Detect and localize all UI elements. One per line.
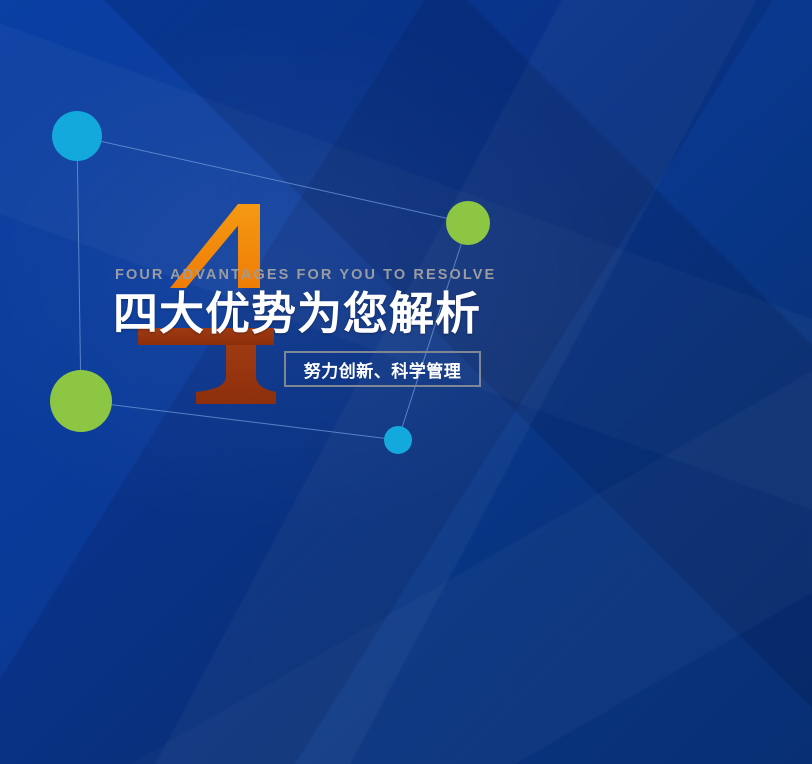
node-cyan-top-left [52, 111, 102, 161]
line-cyan-top-to-green-bottom [77, 136, 81, 401]
subtitle-badge: 努力创新、科学管理 [284, 351, 481, 387]
headline-title: 四大优势为您解析 [113, 290, 713, 338]
promo-banner: FOUR ADVANTAGES FOR YOU TO RESOLVE 四大优势为… [0, 0, 812, 764]
headline-block: FOUR ADVANTAGES FOR YOU TO RESOLVE 四大优势为… [113, 268, 713, 337]
subtitle-badge-label: 努力创新、科学管理 [304, 357, 462, 382]
numeral-four-lower [138, 328, 276, 404]
node-green-bottom-left [50, 370, 112, 432]
node-cyan-bottom [384, 426, 412, 454]
eyebrow-tagline: FOUR ADVANTAGES FOR YOU TO RESOLVE [115, 268, 713, 283]
node-green-right [446, 201, 490, 245]
